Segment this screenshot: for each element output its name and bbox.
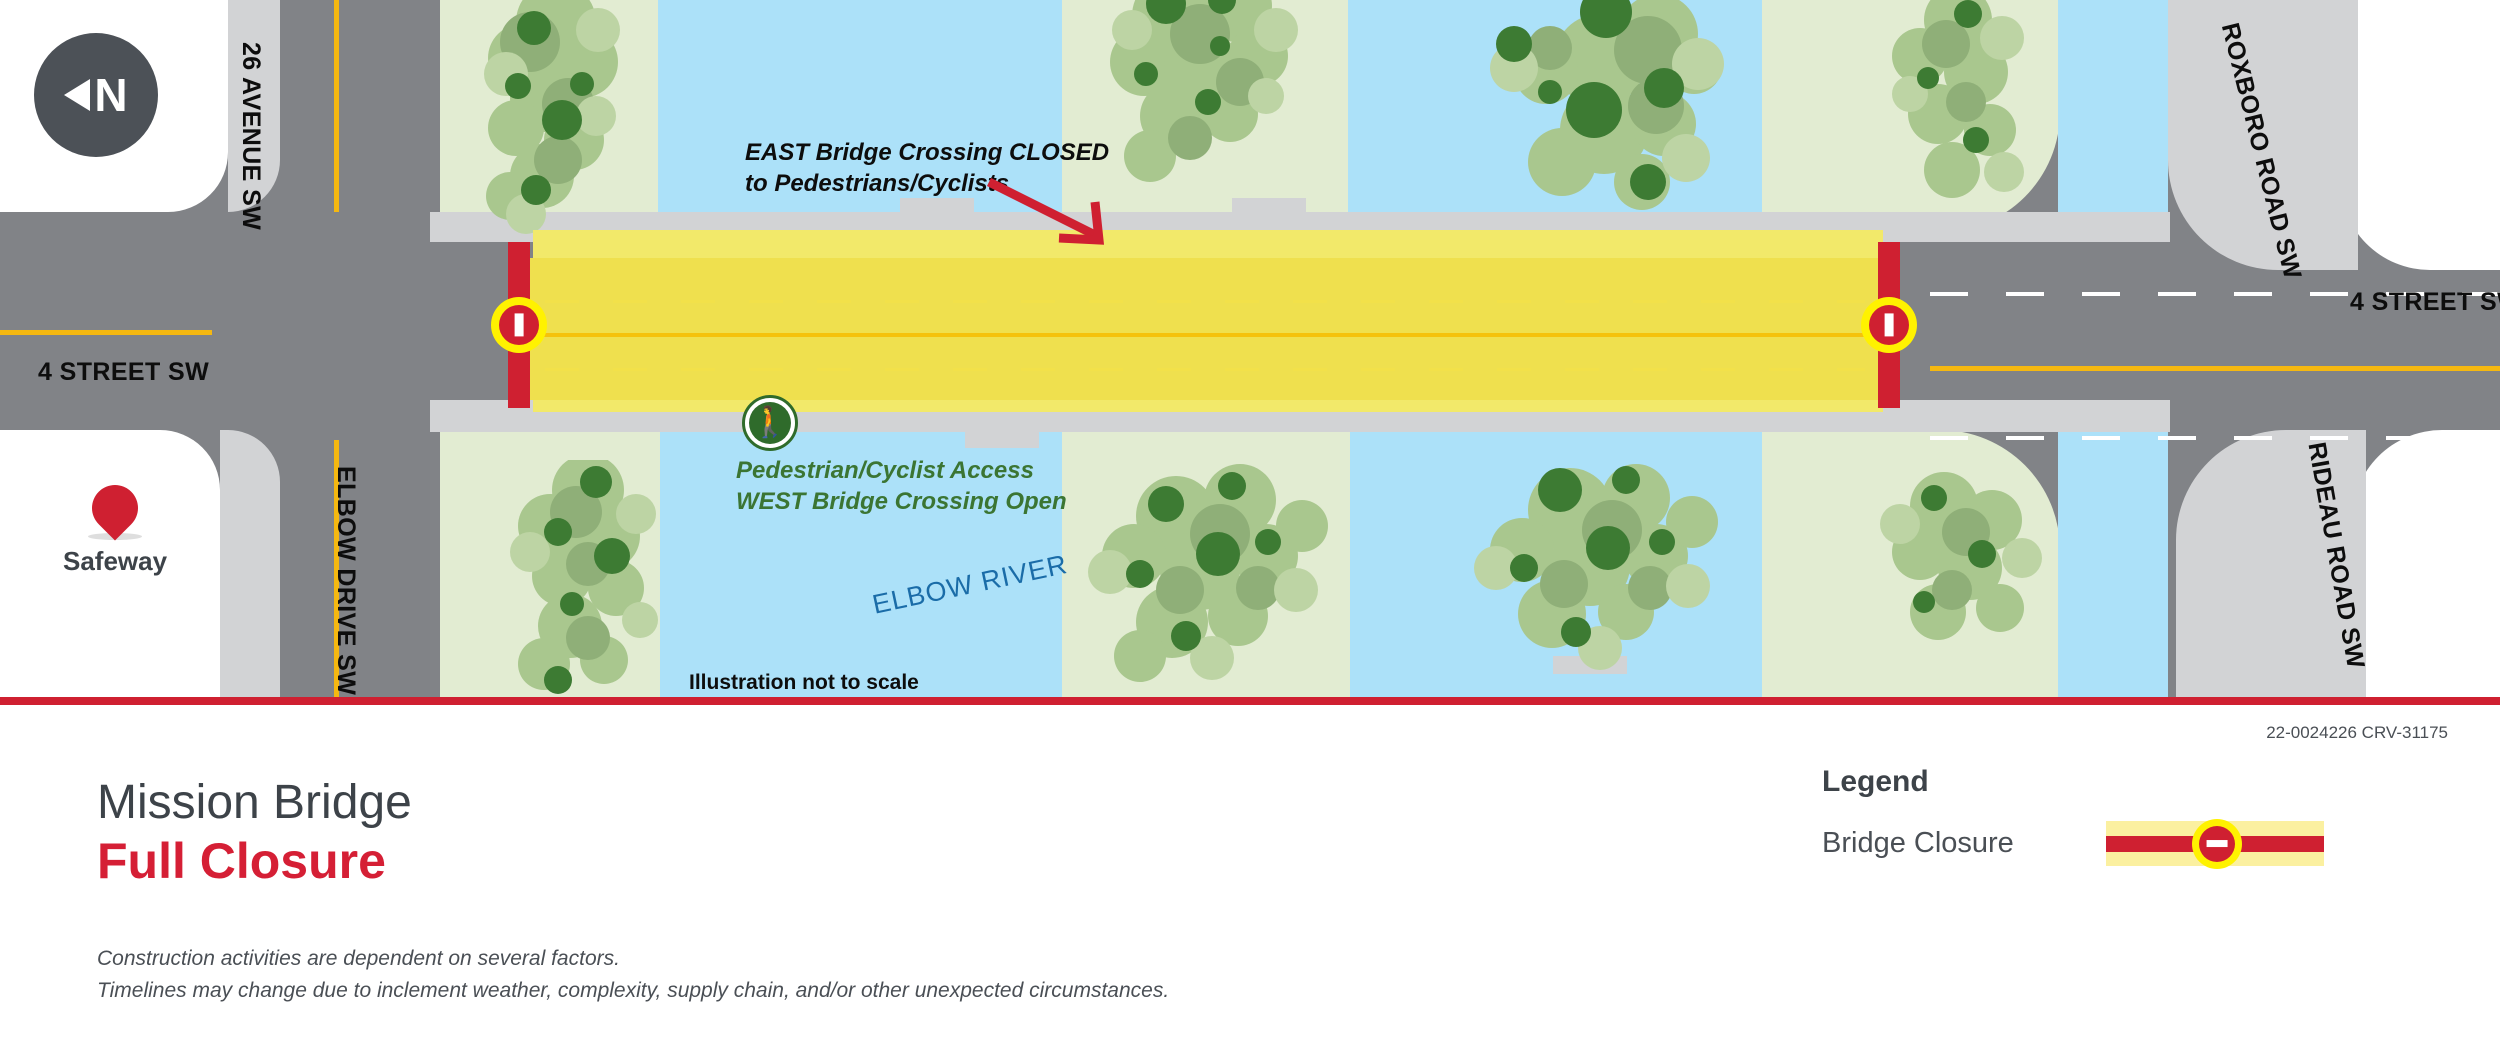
street-label-4-street-sw-east: 4 STREET SW [2350, 288, 2500, 317]
tree-cluster-s-mid [1080, 450, 1380, 700]
annotation-ped-line1: Pedestrian/Cyclist Access [736, 456, 1067, 487]
tree-cluster-nw [470, 0, 690, 240]
tree-cluster-far-ne [1880, 0, 2070, 220]
closure-centerline [520, 333, 1883, 337]
legend-no-entry-icon [2192, 819, 2242, 869]
river-upper-3 [2058, 0, 2168, 232]
sidewalk-west-lower [220, 430, 280, 700]
annotation-ped-line2: WEST Bridge Crossing Open [736, 487, 1067, 518]
map-footer-divider [0, 697, 2500, 705]
legend: Legend Bridge Closure [1822, 765, 2324, 866]
legend-title: Legend [1822, 765, 2324, 799]
disclaimer-line-1: Construction activities are dependent on… [97, 943, 1169, 975]
compass-north-label: N [94, 72, 127, 118]
poi-label: Safeway [63, 546, 167, 577]
street-label-elbow-drive-sw: ELBOW DRIVE SW [331, 466, 360, 695]
bridge-abutment-n1 [900, 198, 974, 216]
page-title: Mission Bridge [97, 775, 412, 832]
street-label-4-street-sw-west: 4 STREET SW [38, 358, 209, 387]
tree-cluster-ne [1470, 0, 1740, 230]
building-pad-ne [2340, 0, 2500, 270]
building-pad-se [2352, 430, 2500, 700]
street-label-26-avenue-sw: 26 AVENUE SW [236, 42, 265, 230]
closure-overlay-north-walk [533, 230, 1883, 258]
disclaimer: Construction activities are dependent on… [97, 943, 1169, 1007]
river-lower-3 [2058, 430, 2168, 700]
centerline-26-avenue [334, 0, 339, 212]
footer: 22-0024226 CRV-31175 Mission Bridge Full… [0, 705, 2500, 1055]
north-arrow-icon: N [34, 33, 158, 157]
centerline-4-street-west [0, 330, 212, 335]
pedestrian-glyph: 🚶 [749, 402, 791, 444]
centerline-4-street-east [1930, 366, 2500, 371]
title-block: Mission Bridge Full Closure [97, 775, 412, 891]
closure-overlay-south-walk [533, 400, 1883, 412]
tree-cluster-se [1460, 450, 1750, 700]
pedestrian-walking-icon: 🚶 [742, 395, 798, 451]
annotation-east-closed-line1: EAST Bridge Crossing CLOSED [745, 138, 1109, 169]
tree-cluster-sw [500, 460, 720, 700]
bridge-abutment-s1 [965, 430, 1039, 448]
reference-number: 22-0024226 CRV-31175 [2266, 723, 2448, 743]
legend-item: Bridge Closure [1822, 821, 2324, 866]
scale-note: Illustration not to scale [689, 671, 919, 695]
tree-cluster-far-se [1870, 460, 2060, 680]
compass-needle [64, 79, 90, 111]
legend-item-label: Bridge Closure [1822, 827, 2014, 860]
closure-overlay-roadway [520, 258, 1883, 400]
map-canvas: N Safeway 26 AVENUE SW 4 STREET SW ELBOW… [0, 0, 2500, 700]
map-pin-icon [83, 475, 148, 540]
no-entry-icon-east[interactable] [1861, 297, 1917, 353]
no-entry-icon-west[interactable] [491, 297, 547, 353]
disclaimer-line-2: Timelines may change due to inclement we… [97, 975, 1169, 1007]
closure-lane-dash-north [545, 300, 1865, 303]
lane-dash-east-south [1930, 436, 2500, 440]
page-subtitle: Full Closure [97, 832, 412, 891]
red-arrow-icon [985, 178, 1115, 248]
closure-lane-dash-south [545, 368, 1865, 371]
closure-map-infographic: N Safeway 26 AVENUE SW 4 STREET SW ELBOW… [0, 0, 2500, 1055]
annotation-pedestrian-access: Pedestrian/Cyclist Access WEST Bridge Cr… [736, 456, 1067, 517]
tree-cluster-n-mid [1090, 0, 1350, 216]
bridge-closure-swatch-icon [2106, 821, 2324, 866]
poi-safeway[interactable]: Safeway [63, 485, 167, 577]
